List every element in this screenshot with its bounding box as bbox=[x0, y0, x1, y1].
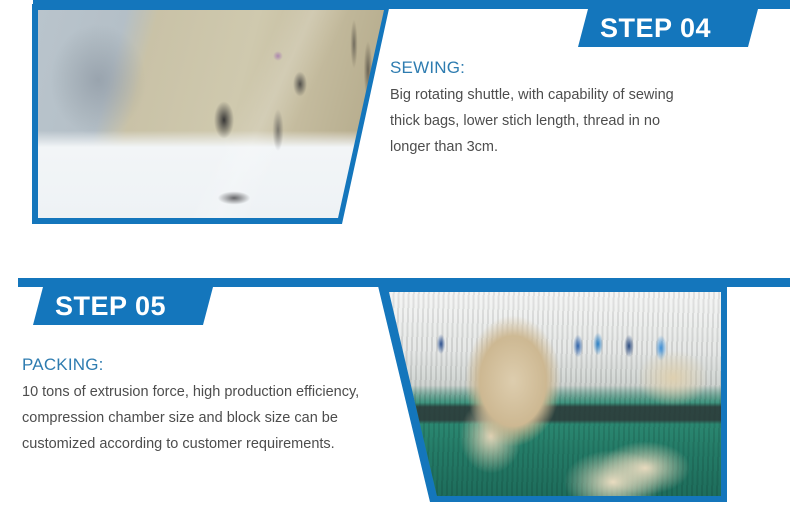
step-05-banner: STEP 05 bbox=[33, 287, 213, 325]
step-04-heading: SEWING: bbox=[390, 58, 720, 78]
packing-workshop-photo bbox=[373, 286, 727, 502]
step-05-text-column: PACKING: 10 tons of extrusion force, hig… bbox=[22, 355, 392, 457]
step-04-body-line-3: longer than 3cm. bbox=[390, 134, 720, 160]
step-04-photo-frame bbox=[32, 4, 392, 224]
step-05-photo-image bbox=[373, 286, 727, 502]
step-05-divider-bar bbox=[18, 278, 790, 287]
infographic-page: STEP 04 SEWING: Big rotating shuttle, wi… bbox=[0, 0, 803, 510]
step-04-body: Big rotating shuttle, with capability of… bbox=[390, 82, 720, 160]
step-05-body-line-1: 10 tons of extrusion force, high product… bbox=[22, 379, 392, 405]
step-04-body-line-2: thick bags, lower stich length, thread i… bbox=[390, 108, 720, 134]
step-04-photo-image bbox=[38, 10, 386, 218]
step-05-banner-label: STEP 05 bbox=[55, 291, 166, 322]
step-04-body-line-1: Big rotating shuttle, with capability of… bbox=[390, 82, 720, 108]
step-04-section: STEP 04 SEWING: Big rotating shuttle, wi… bbox=[0, 0, 803, 255]
step-05-body: 10 tons of extrusion force, high product… bbox=[22, 379, 392, 457]
step-05-body-line-3: customized according to customer require… bbox=[22, 431, 392, 457]
step-05-body-line-2: compression chamber size and block size … bbox=[22, 405, 392, 431]
step-05-photo-frame bbox=[373, 286, 727, 502]
step-05-heading: PACKING: bbox=[22, 355, 392, 375]
step-04-text-column: SEWING: Big rotating shuttle, with capab… bbox=[390, 58, 720, 160]
step-04-banner: STEP 04 bbox=[578, 9, 758, 47]
sewing-machine-photo bbox=[38, 10, 386, 218]
step-04-banner-label: STEP 04 bbox=[600, 13, 711, 44]
